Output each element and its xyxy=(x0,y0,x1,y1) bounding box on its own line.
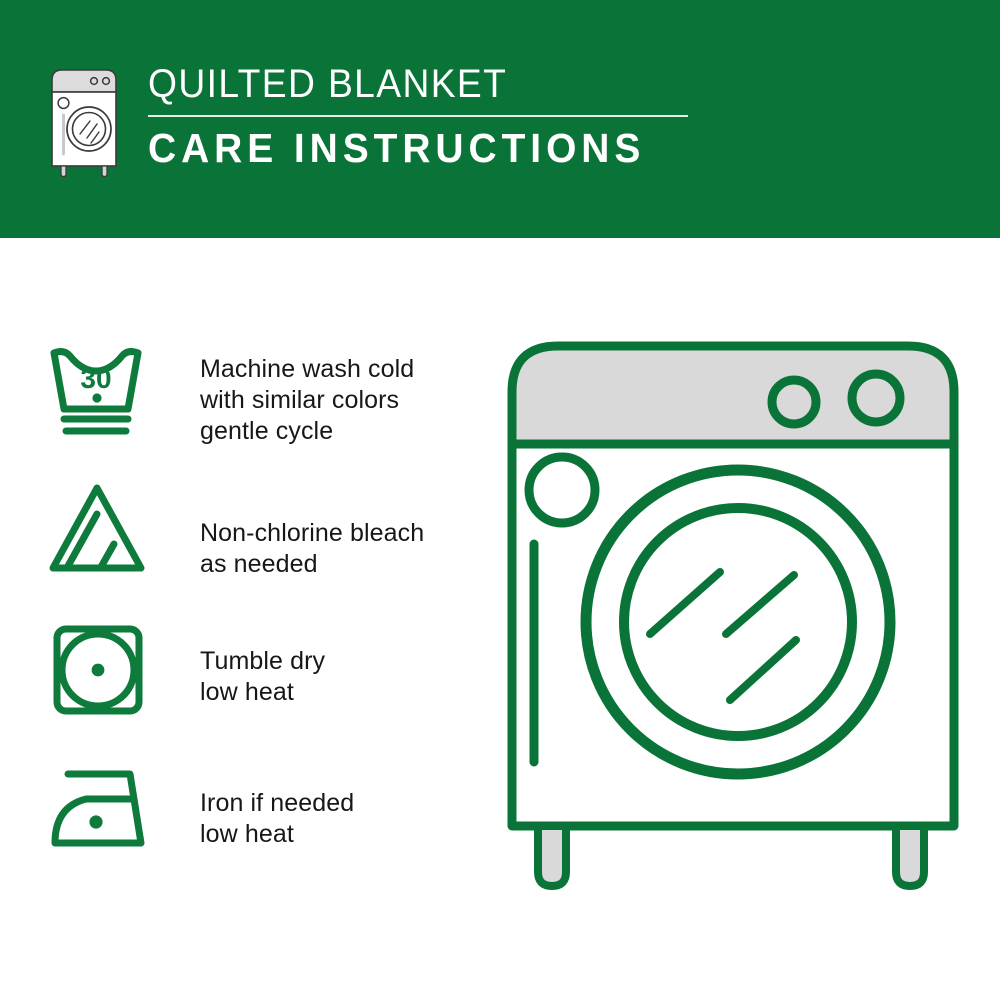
care-line: low heat xyxy=(200,819,354,850)
leg-right xyxy=(896,826,924,886)
washing-machine-icon xyxy=(42,66,134,178)
care-text-tumble-dry: Tumble dry low heat xyxy=(200,620,325,708)
page-title-secondary: CARE INSTRUCTIONS xyxy=(148,125,661,171)
care-text-machine-wash: Machine wash cold with similar colors ge… xyxy=(200,340,414,447)
title-divider xyxy=(148,115,688,117)
wash-dot xyxy=(92,393,101,402)
leg-left xyxy=(538,826,566,886)
page-title-primary: QUILTED BLANKET xyxy=(148,62,650,106)
care-instruction-list: 30 Machine wash cold with similar colors… xyxy=(46,340,476,900)
header-band: QUILTED BLANKET CARE INSTRUCTIONS xyxy=(0,0,1000,238)
care-text-iron: Iron if needed low heat xyxy=(200,760,354,850)
header-content: QUILTED BLANKET CARE INSTRUCTIONS xyxy=(42,62,688,178)
control-panel xyxy=(512,346,954,444)
care-line: low heat xyxy=(200,677,325,708)
care-row-tumble-dry: Tumble dry low heat xyxy=(46,620,476,760)
header-title-group: QUILTED BLANKET CARE INSTRUCTIONS xyxy=(148,62,688,171)
care-instructions-infographic: QUILTED BLANKET CARE INSTRUCTIONS 30 xyxy=(0,0,1000,1000)
care-line: Non-chlorine bleach xyxy=(200,518,424,549)
care-text-bleach: Non-chlorine bleach as needed xyxy=(200,480,424,580)
care-row-machine-wash: 30 Machine wash cold with similar colors… xyxy=(46,340,476,480)
wash-temperature-label: 30 xyxy=(80,363,111,394)
care-row-bleach: Non-chlorine bleach as needed xyxy=(46,480,476,620)
care-line: Machine wash cold xyxy=(200,354,414,385)
tumble-dry-low-heat-icon xyxy=(46,620,154,720)
care-line: gentle cycle xyxy=(200,416,414,447)
non-chlorine-bleach-triangle-icon xyxy=(46,480,154,580)
tumble-dry-dot xyxy=(92,664,105,677)
wash-tub-30-gentle-icon: 30 xyxy=(46,340,154,440)
front-load-washing-machine-illustration xyxy=(498,332,968,922)
care-line: with similar colors xyxy=(200,385,414,416)
care-row-iron: Iron if needed low heat xyxy=(46,760,476,900)
care-line: Tumble dry xyxy=(200,646,325,677)
care-line: as needed xyxy=(200,549,424,580)
iron-dot xyxy=(89,815,102,828)
iron-low-heat-icon xyxy=(46,760,154,860)
care-line: Iron if needed xyxy=(200,788,354,819)
